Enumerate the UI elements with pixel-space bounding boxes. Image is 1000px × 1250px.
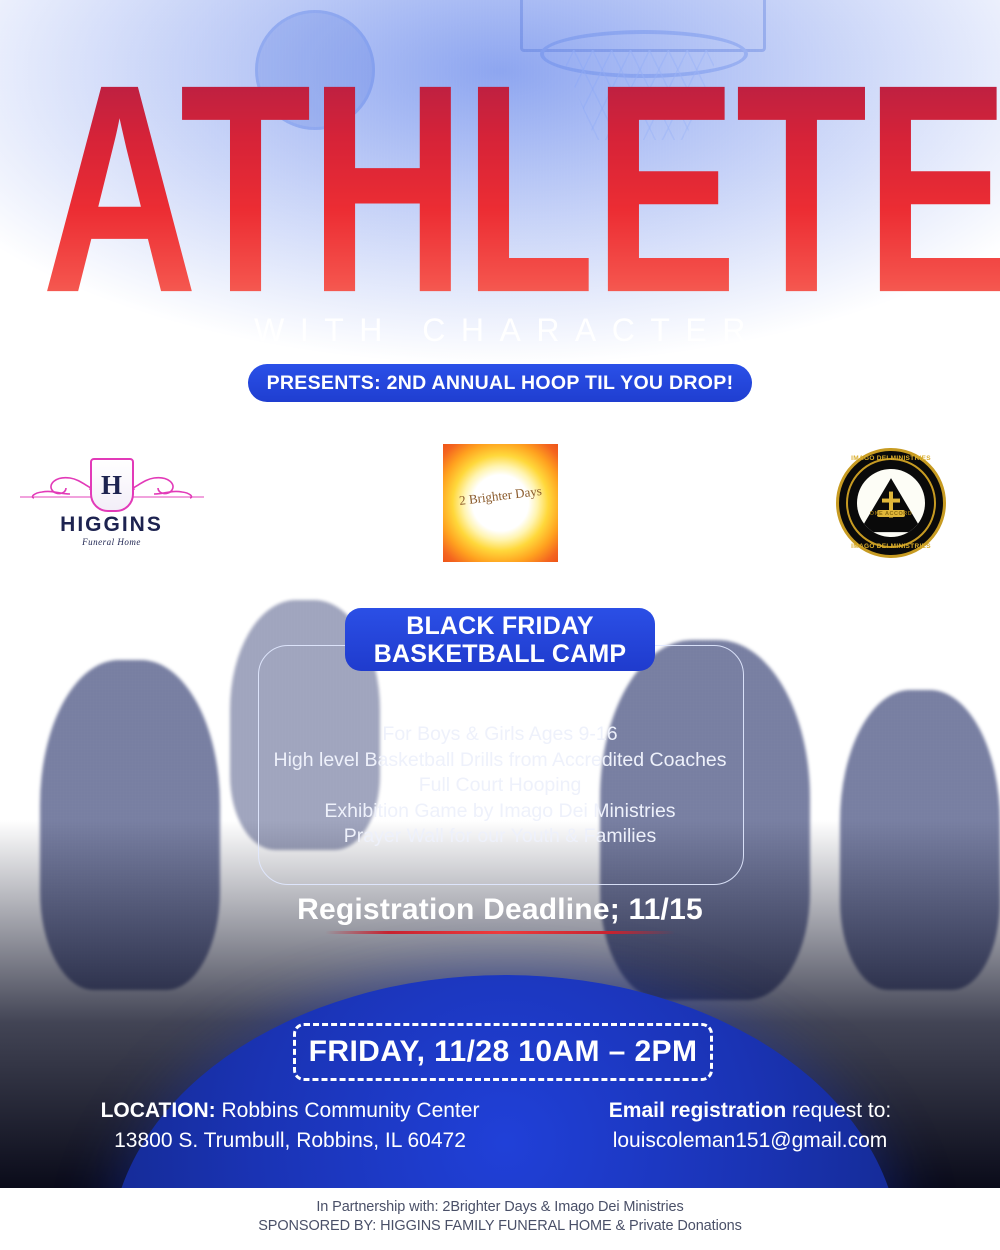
higgins-wordmark: HIGGINS [60,513,163,537]
higgins-logo: H HIGGINS Funeral Home [12,444,212,562]
seal-bottom-text: IMAGO DEI MINISTRIES [839,543,943,550]
sponsor-card-higgins: H HIGGINS Funeral Home [0,422,243,583]
deadline-underline [325,931,675,934]
location-line: LOCATION: Robbins Community Center [60,1096,520,1126]
footer-sponsored: SPONSORED BY: HIGGINS FAMILY FUNERAL HOM… [258,1217,742,1236]
title-container: ATHLETES [0,62,1000,262]
email-address[interactable]: louiscoleman151@gmail.com [530,1126,970,1156]
camp-title-banner: BLACK FRIDAY BASKETBALL CAMP [345,608,655,671]
seal-inner: ONE ACCORD [857,469,925,537]
feature-item: Exhibition Game by Imago Dei Ministries [250,799,750,825]
event-date-text: FRIDAY, 11/28 10AM – 2PM [309,1035,698,1069]
event-flyer: ATHLETES WITH CHARACTER PRESENTS: 2ND AN… [0,0,1000,1250]
page-title: ATHLETES [42,62,1000,317]
sponsor-card-brighter-days: 2 Brighter Days [388,422,612,583]
presents-banner: PRESENTS: 2ND ANNUAL HOOP TIL YOU DROP! [248,364,752,402]
feature-item: For Boys & Girls Ages 9-16 [250,722,750,748]
camp-title-line2: BASKETBALL CAMP [374,640,627,668]
email-label: Email registration [609,1099,786,1122]
brighter-days-logo: 2 Brighter Days [443,444,558,562]
feature-item: Prayer Wall for our Youth & Families [250,824,750,850]
brighter-days-wordmark: 2 Brighter Days [442,481,558,511]
location-block: LOCATION: Robbins Community Center 13800… [60,1096,520,1156]
location-address: 13800 S. Trumbull, Robbins, IL 60472 [60,1126,520,1156]
camp-features-list: For Boys & Girls Ages 9-16 High level Ba… [250,722,750,850]
shield-icon: H [90,458,134,512]
sponsor-card-imago-dei: IMAGO DEI MINISTRIES IMAGO DEI MINISTRIE… [762,422,1000,583]
email-label-suffix: request to: [792,1099,891,1122]
email-line: Email registration request to: [530,1096,970,1126]
feature-item: Full Court Hooping [250,773,750,799]
footer-partnership: In Partnership with: 2Brighter Days & Im… [316,1198,683,1217]
feature-item: High level Basketball Drills from Accred… [250,748,750,774]
seal-inner-text: ONE ACCORD [857,511,925,517]
higgins-monogram: H [101,472,122,499]
location-label: LOCATION: [101,1099,216,1122]
email-block: Email registration request to: louiscole… [530,1096,970,1156]
location-venue: Robbins Community Center [222,1099,480,1122]
event-date-box: FRIDAY, 11/28 10AM – 2PM [293,1023,713,1081]
higgins-tagline: Funeral Home [82,537,141,547]
camp-title-line1: BLACK FRIDAY [406,612,594,640]
seal-top-text: IMAGO DEI MINISTRIES [839,455,943,462]
page-subtitle: WITH CHARACTER [0,312,1000,349]
imago-dei-seal-icon: IMAGO DEI MINISTRIES IMAGO DEI MINISTRIE… [836,448,946,558]
registration-deadline: Registration Deadline; 11/15 [0,893,1000,927]
footer: In Partnership with: 2Brighter Days & Im… [0,1188,1000,1250]
